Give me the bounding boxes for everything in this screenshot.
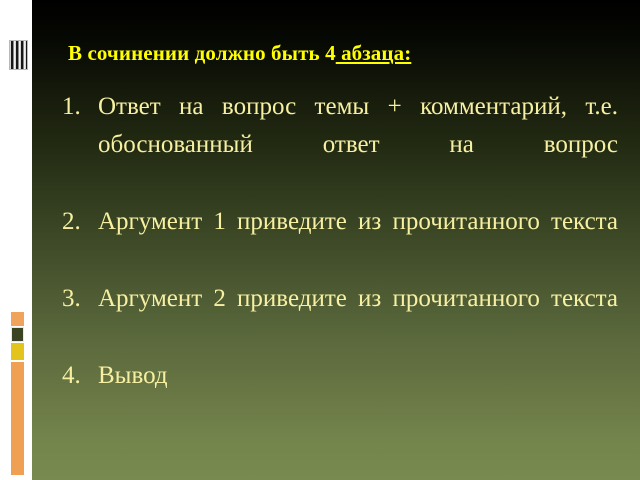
orange-bar-decoration: [11, 362, 24, 475]
slide-title-underlined: абзаца:: [336, 41, 412, 65]
list-item: 2. Аргумент 1 приведите из прочитанного …: [62, 203, 618, 279]
list-item: 3. Аргумент 2 приведите из прочитанного …: [62, 280, 618, 356]
list-item-number: 2.: [62, 203, 98, 241]
slide-title: В сочинении должно быть 4 абзаца:: [68, 40, 616, 66]
list-item: 1. Ответ на вопрос темы + комментарий, т…: [62, 88, 618, 202]
list-item: 4. Вывод: [62, 357, 618, 395]
list-item-text: Аргумент 1 приведите из прочитанного тек…: [98, 203, 618, 279]
slide-title-prefix: В сочинении должно быть 4: [68, 41, 336, 65]
list-item-number: 4.: [62, 357, 98, 395]
list-item-text: Ответ на вопрос темы + комментарий, т.е.…: [98, 88, 618, 202]
yellow-chip-decoration: [11, 343, 24, 360]
list-item-number: 1.: [62, 88, 98, 126]
stripe-decoration-icon: [9, 40, 28, 70]
list-item-number: 3.: [62, 280, 98, 318]
orange-chip-top-decoration: [11, 312, 24, 326]
dark-chip-decoration: [11, 327, 24, 342]
list-item-text: Вывод: [98, 357, 618, 395]
slide: В сочинении должно быть 4 абзаца: 1. Отв…: [0, 0, 640, 480]
numbered-list: 1. Ответ на вопрос темы + комментарий, т…: [62, 88, 618, 396]
list-item-text: Аргумент 2 приведите из прочитанного тек…: [98, 280, 618, 356]
